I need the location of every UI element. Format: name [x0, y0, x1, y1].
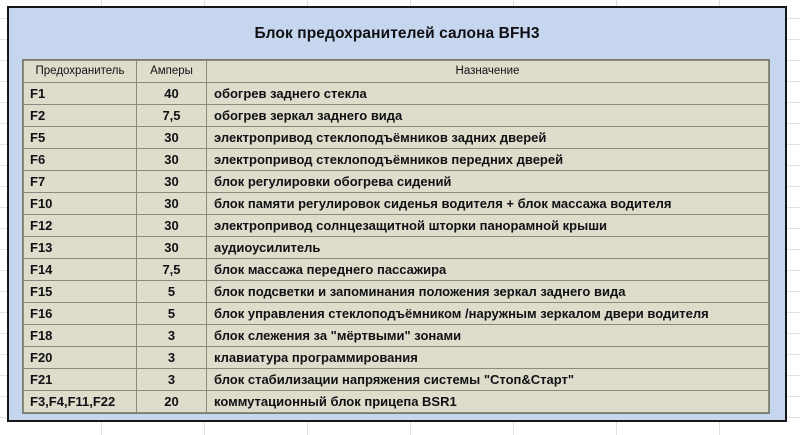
cell-fuse: F2 [24, 105, 137, 127]
cell-fuse: F12 [24, 215, 137, 237]
table-row: F630электропривод стеклоподъёмников пере… [24, 149, 769, 171]
cell-desc: блок управления стеклоподъёмником /наруж… [207, 303, 769, 325]
table-row: F140обогрев заднего стекла [24, 83, 769, 105]
table-row: F183блок слежения за "мёртвыми" зонами [24, 325, 769, 347]
table-row: F1030блок памяти регулировок сиденья вод… [24, 193, 769, 215]
table-header-row: Предохранитель Амперы Назначение [24, 61, 769, 83]
table-row: F165блок управления стеклоподъёмником /н… [24, 303, 769, 325]
cell-amps: 40 [137, 83, 207, 105]
cell-fuse: F21 [24, 369, 137, 391]
table-row: F27,5обогрев зеркал заднего вида [24, 105, 769, 127]
cell-desc: клавиатура программирования [207, 347, 769, 369]
cell-amps: 5 [137, 281, 207, 303]
cell-amps: 30 [137, 193, 207, 215]
cell-amps: 30 [137, 215, 207, 237]
cell-fuse: F1 [24, 83, 137, 105]
cell-desc: электропривод стеклоподъёмников задних д… [207, 127, 769, 149]
table-row: F155блок подсветки и запоминания положен… [24, 281, 769, 303]
cell-amps: 5 [137, 303, 207, 325]
cell-desc: коммутационный блок прицепа BSR1 [207, 391, 769, 413]
table-row: F530электропривод стеклоподъёмников задн… [24, 127, 769, 149]
table-header: Предохранитель Амперы Назначение [24, 61, 769, 83]
cell-fuse: F20 [24, 347, 137, 369]
fuse-box-panel: Блок предохранителей салона BFH3 Предохр… [7, 6, 787, 422]
cell-amps: 30 [137, 237, 207, 259]
fuse-table-container: Предохранитель Амперы Назначение F140обо… [22, 59, 770, 414]
cell-desc: обогрев зеркал заднего вида [207, 105, 769, 127]
column-header-amps: Амперы [137, 61, 207, 83]
cell-fuse: F15 [24, 281, 137, 303]
table-row: F3,F4,F11,F2220коммутационный блок прице… [24, 391, 769, 413]
cell-fuse: F13 [24, 237, 137, 259]
cell-fuse: F10 [24, 193, 137, 215]
cell-fuse: F18 [24, 325, 137, 347]
cell-desc: обогрев заднего стекла [207, 83, 769, 105]
fuse-table: Предохранитель Амперы Назначение F140обо… [23, 60, 769, 413]
table-row: F1230электропривод солнцезащитной шторки… [24, 215, 769, 237]
cell-desc: аудиоусилитель [207, 237, 769, 259]
table-body: F140обогрев заднего стеклаF27,5обогрев з… [24, 83, 769, 413]
cell-desc: блок подсветки и запоминания положения з… [207, 281, 769, 303]
cell-amps: 7,5 [137, 259, 207, 281]
table-row: F147,5блок массажа переднего пассажира [24, 259, 769, 281]
column-header-fuse: Предохранитель [24, 61, 137, 83]
cell-desc: блок памяти регулировок сиденья водителя… [207, 193, 769, 215]
table-row: F203клавиатура программирования [24, 347, 769, 369]
cell-amps: 30 [137, 127, 207, 149]
cell-amps: 7,5 [137, 105, 207, 127]
table-row: F730блок регулировки обогрева сидений [24, 171, 769, 193]
cell-desc: электропривод стеклоподъёмников передних… [207, 149, 769, 171]
cell-desc: блок слежения за "мёртвыми" зонами [207, 325, 769, 347]
cell-amps: 30 [137, 171, 207, 193]
cell-desc: блок стабилизации напряжения системы "Ст… [207, 369, 769, 391]
table-row: F1330аудиоусилитель [24, 237, 769, 259]
cell-amps: 20 [137, 391, 207, 413]
cell-desc: блок регулировки обогрева сидений [207, 171, 769, 193]
table-row: F213блок стабилизации напряжения системы… [24, 369, 769, 391]
column-header-desc: Назначение [207, 61, 769, 83]
cell-amps: 30 [137, 149, 207, 171]
cell-amps: 3 [137, 347, 207, 369]
cell-fuse: F7 [24, 171, 137, 193]
cell-fuse: F16 [24, 303, 137, 325]
cell-fuse: F5 [24, 127, 137, 149]
cell-amps: 3 [137, 369, 207, 391]
cell-fuse: F3,F4,F11,F22 [24, 391, 137, 413]
cell-desc: блок массажа переднего пассажира [207, 259, 769, 281]
cell-amps: 3 [137, 325, 207, 347]
cell-desc: электропривод солнцезащитной шторки пано… [207, 215, 769, 237]
page-title: Блок предохранителей салона BFH3 [9, 8, 785, 43]
cell-fuse: F6 [24, 149, 137, 171]
cell-fuse: F14 [24, 259, 137, 281]
